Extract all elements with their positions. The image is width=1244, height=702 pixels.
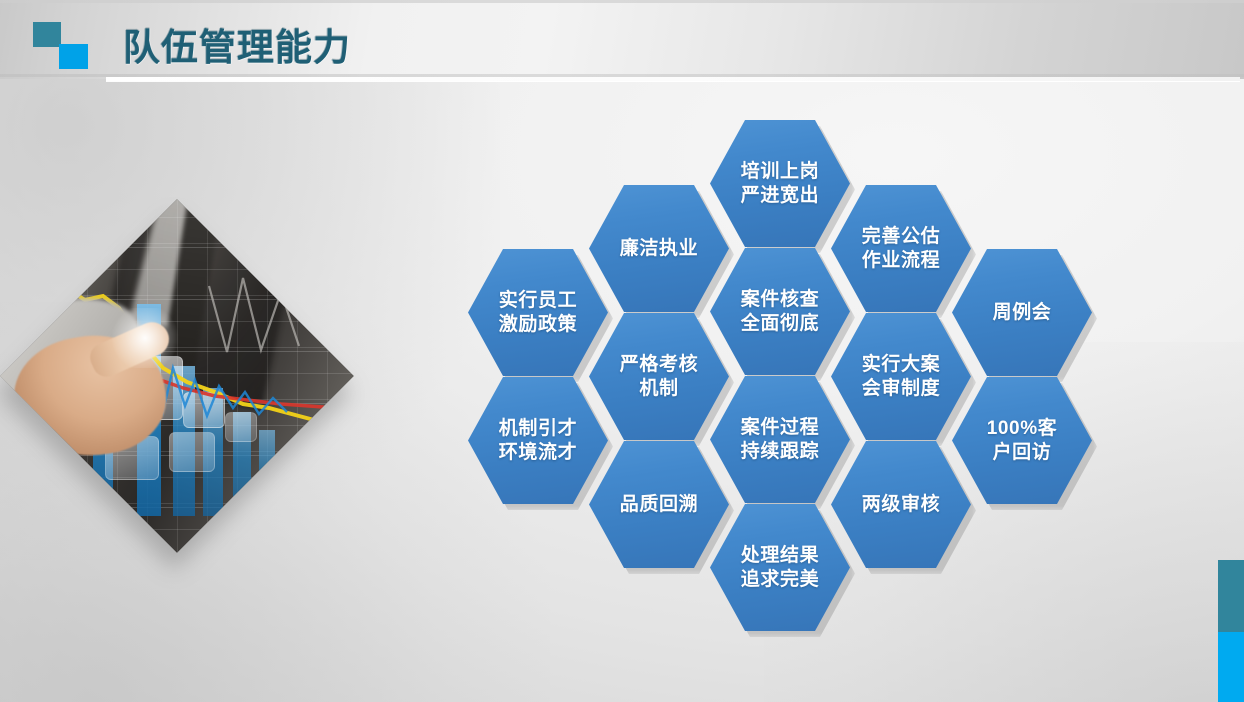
- hexagon-label: 完善公估 作业流程: [862, 225, 940, 271]
- hexagon-label: 100%客 户回访: [987, 417, 1058, 463]
- hexagon-label: 廉洁执业: [620, 237, 698, 260]
- hexagon-label: 案件过程 持续跟踪: [741, 416, 819, 462]
- hexagon-label: 严格考核 机制: [620, 353, 698, 399]
- hexagon-honeycomb: 实行员工 激励政策机制引才 环境流才廉洁执业严格考核 机制品质回溯培训上岗 严进…: [0, 0, 1244, 702]
- hexagon-label: 处理结果 追求完美: [741, 544, 819, 590]
- hexagon-label: 案件核查 全面彻底: [741, 288, 819, 334]
- hexagon-label: 培训上岗 严进宽出: [741, 160, 819, 206]
- hexagon-label: 实行员工 激励政策: [499, 289, 577, 335]
- slide-canvas: 队伍管理能力: [0, 0, 1244, 702]
- hexagon-label: 两级审核: [862, 493, 940, 516]
- hexagon-label: 周例会: [993, 301, 1052, 324]
- hexagon-label: 品质回溯: [620, 493, 698, 516]
- hexagon-label: 机制引才 环境流才: [499, 417, 577, 463]
- hexagon-label: 实行大案 会审制度: [862, 353, 940, 399]
